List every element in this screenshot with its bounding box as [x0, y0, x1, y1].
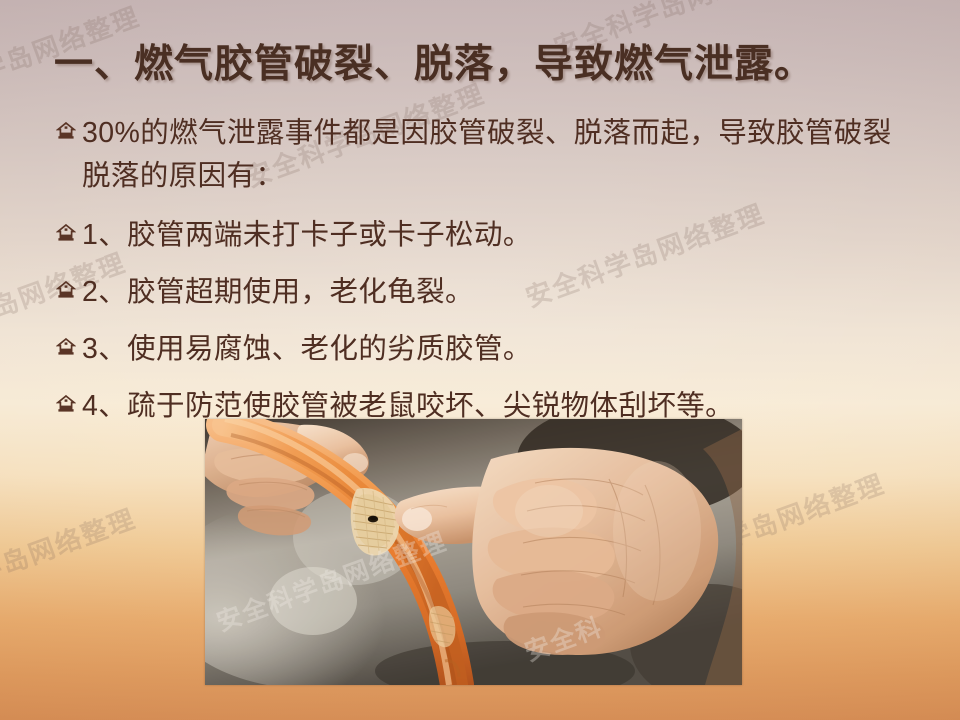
list-item: 4、疏于防范使胶管被老鼠咬坏、尖锐物体刮坏等。 — [56, 385, 926, 428]
hose-damage-photo: 安全科学岛网络整理 安全科 — [205, 419, 742, 685]
house-icon — [56, 121, 76, 141]
list-item: 2、胶管超期使用，老化龟裂。 — [56, 271, 926, 314]
list-item: 3、使用易腐蚀、老化的劣质胶管。 — [56, 328, 926, 371]
list-item-text: 1、胶管两端未打卡子或卡子松动。 — [82, 214, 532, 257]
page-title: 一、燃气胶管破裂、脱落，导致燃气泄露。 — [54, 33, 814, 89]
bullet-list: 30%的燃气泄露事件都是因胶管破裂、脱落而起，导致胶管破裂脱落的原因有： 1、胶… — [56, 112, 926, 442]
list-item-text: 2、胶管超期使用，老化龟裂。 — [82, 271, 474, 314]
list-item: 1、胶管两端未打卡子或卡子松动。 — [56, 214, 926, 257]
list-item-text: 4、疏于防范使胶管被老鼠咬坏、尖锐物体刮坏等。 — [82, 385, 734, 428]
watermark-text: 学岛网络整理 — [0, 499, 141, 591]
list-item: 30%的燃气泄露事件都是因胶管破裂、脱落而起，导致胶管破裂脱落的原因有： — [56, 112, 926, 198]
house-icon — [56, 337, 76, 357]
slide-canvas: 学岛网络整理 安全科学岛网络整理 学岛网络整理 安全科学岛网络整理 学岛网络整理… — [0, 0, 960, 720]
house-icon — [56, 223, 76, 243]
house-icon — [56, 394, 76, 414]
list-item-text: 3、使用易腐蚀、老化的劣质胶管。 — [82, 328, 532, 371]
house-icon — [56, 280, 76, 300]
list-item-text: 30%的燃气泄露事件都是因胶管破裂、脱落而起，导致胶管破裂脱落的原因有： — [82, 112, 920, 198]
